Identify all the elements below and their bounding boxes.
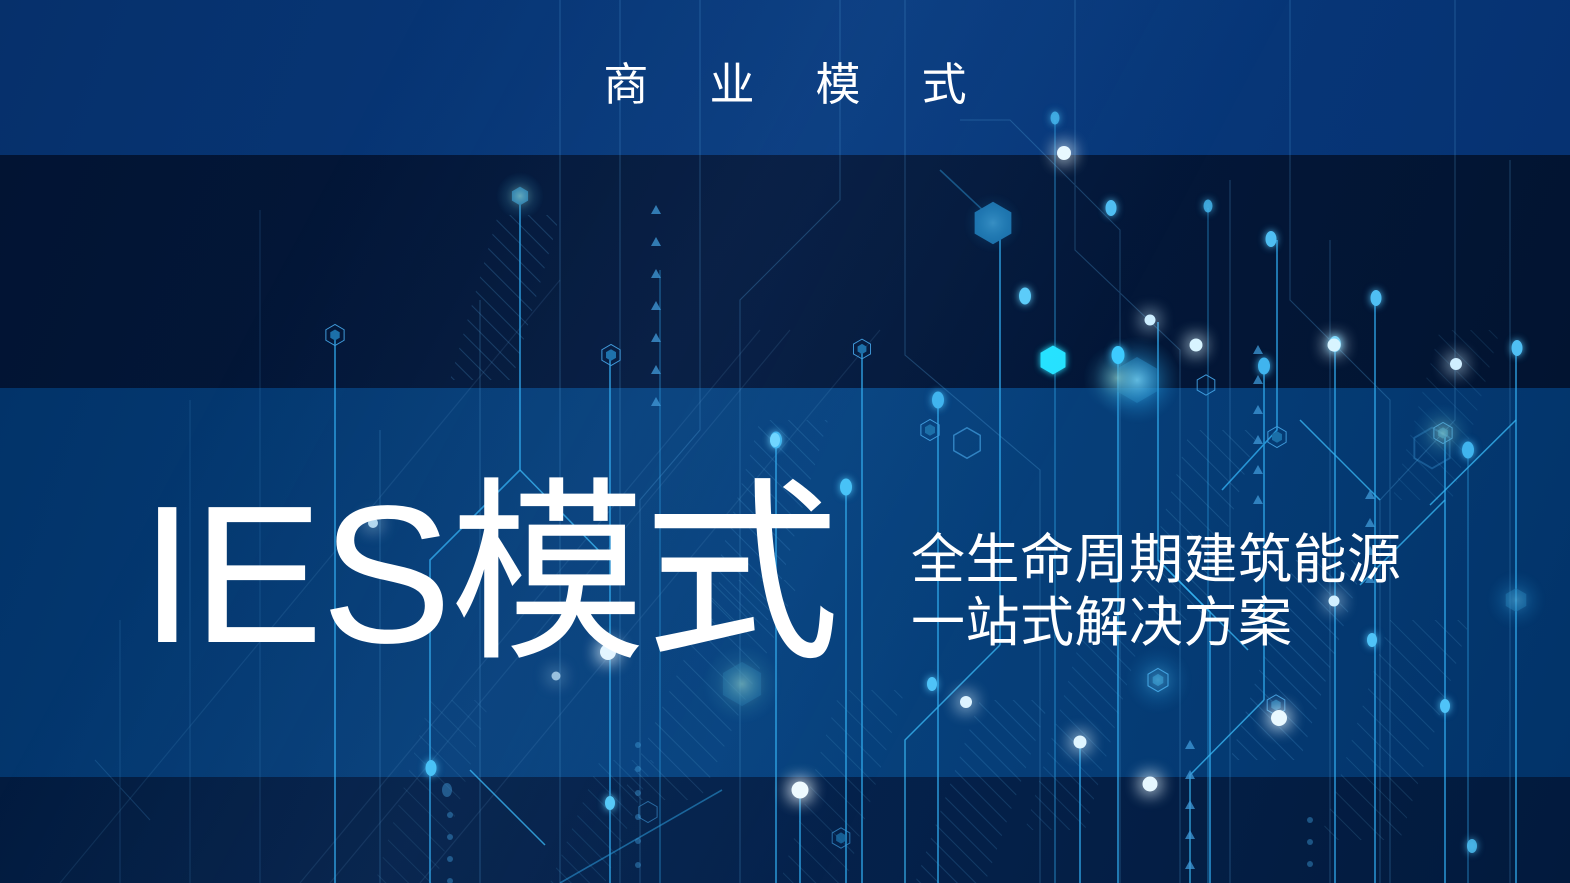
background-band-bottom — [0, 777, 1570, 883]
presentation-slide: 商 业 模 式 IES模式 全生命周期建筑能源 一站式解决方案 — [0, 0, 1570, 883]
page-title: IES模式 — [140, 477, 838, 673]
background-band-dark — [0, 155, 1570, 388]
slide-eyebrow-title: 商 业 模 式 — [0, 62, 1570, 107]
slide-subtitle: 全生命周期建筑能源 一站式解决方案 — [911, 529, 1402, 654]
